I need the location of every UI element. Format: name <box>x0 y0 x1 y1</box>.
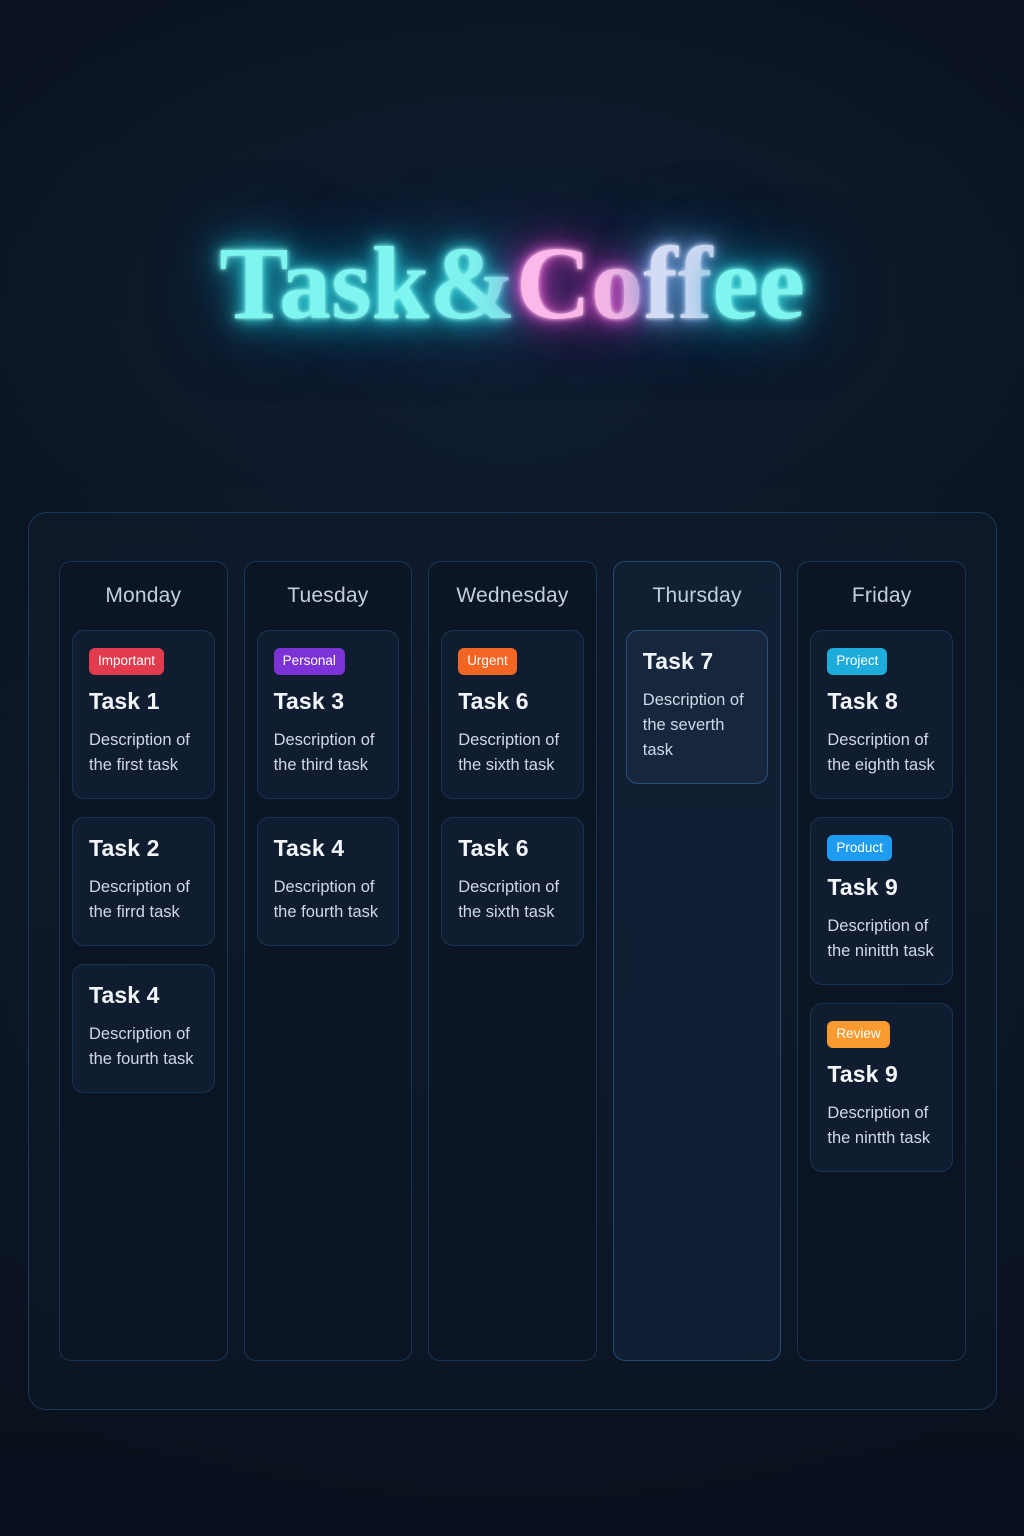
day-header-label: Thursday <box>626 584 769 608</box>
day-header-label: Friday <box>810 584 953 608</box>
task-description: Description of the severth task <box>643 688 752 763</box>
day-column-tuesday[interactable]: TuesdayPersonalTask 3Description of the … <box>244 561 413 1361</box>
task-card[interactable]: ProjectTask 8Description of the eighth t… <box>810 630 953 799</box>
day-column-thursday[interactable]: ThursdayTask 7Description of the severth… <box>613 561 782 1361</box>
app-title-segment-2: ff <box>643 226 712 341</box>
task-description: Description of the third task <box>274 728 383 778</box>
day-header-label: Tuesday <box>257 584 400 608</box>
task-title: Task 8 <box>827 688 936 715</box>
task-card[interactable]: Task 4Description of the fourth task <box>257 817 400 946</box>
task-card[interactable]: ReviewTask 9Description of the nintth ta… <box>810 1003 953 1172</box>
task-title: Task 6 <box>458 835 567 862</box>
task-badge[interactable]: Urgent <box>458 648 517 675</box>
task-title: Task 1 <box>89 688 198 715</box>
task-title: Task 9 <box>827 874 936 901</box>
task-title: Task 7 <box>643 648 752 675</box>
task-title: Task 2 <box>89 835 198 862</box>
day-column-wednesday[interactable]: WednesdayUrgentTask 6Description of the … <box>428 561 597 1361</box>
task-title: Task 6 <box>458 688 567 715</box>
task-badge[interactable]: Product <box>827 835 892 862</box>
task-description: Description of the fourth task <box>89 1022 198 1072</box>
task-description: Description of the sixth task <box>458 728 567 778</box>
task-card[interactable]: ProductTask 9Description of the ninitth … <box>810 817 953 986</box>
app-title-segment-0: Task& <box>219 226 516 341</box>
day-column-friday[interactable]: FridayProjectTask 8Description of the ei… <box>797 561 966 1361</box>
app-title: Task&Coffee <box>219 232 804 336</box>
task-title: Task 4 <box>89 982 198 1009</box>
task-title: Task 3 <box>274 688 383 715</box>
task-description: Description of the eighth task <box>827 728 936 778</box>
task-card[interactable]: Task 7Description of the severth task <box>626 630 769 784</box>
task-card[interactable]: Task 6Description of the sixth task <box>441 817 584 946</box>
weekly-task-board: MondayImportantTask 1Description of the … <box>28 512 997 1410</box>
task-card[interactable]: PersonalTask 3Description of the third t… <box>257 630 400 799</box>
task-description: Description of the fourth task <box>274 875 383 925</box>
task-title: Task 9 <box>827 1061 936 1088</box>
task-title: Task 4 <box>274 835 383 862</box>
app-title-segment-1: Co <box>516 226 643 341</box>
task-description: Description of the ninitth task <box>827 914 936 964</box>
day-column-monday[interactable]: MondayImportantTask 1Description of the … <box>59 561 228 1361</box>
task-card[interactable]: Task 4Description of the fourth task <box>72 964 215 1093</box>
app-title-wrapper: Task&Coffee <box>0 232 1024 336</box>
task-description: Description of the sixth task <box>458 875 567 925</box>
task-description: Description of the firrd task <box>89 875 198 925</box>
task-badge[interactable]: Review <box>827 1021 889 1048</box>
task-card[interactable]: ImportantTask 1Description of the first … <box>72 630 215 799</box>
task-badge[interactable]: Important <box>89 648 164 675</box>
task-description: Description of the first task <box>89 728 198 778</box>
task-badge[interactable]: Personal <box>274 648 345 675</box>
day-header-label: Wednesday <box>441 584 584 608</box>
task-badge[interactable]: Project <box>827 648 887 675</box>
task-description: Description of the nintth task <box>827 1101 936 1151</box>
task-card[interactable]: Task 2Description of the firrd task <box>72 817 215 946</box>
app-title-segment-3: ee <box>712 226 804 341</box>
task-card[interactable]: UrgentTask 6Description of the sixth tas… <box>441 630 584 799</box>
day-header-label: Monday <box>72 584 215 608</box>
